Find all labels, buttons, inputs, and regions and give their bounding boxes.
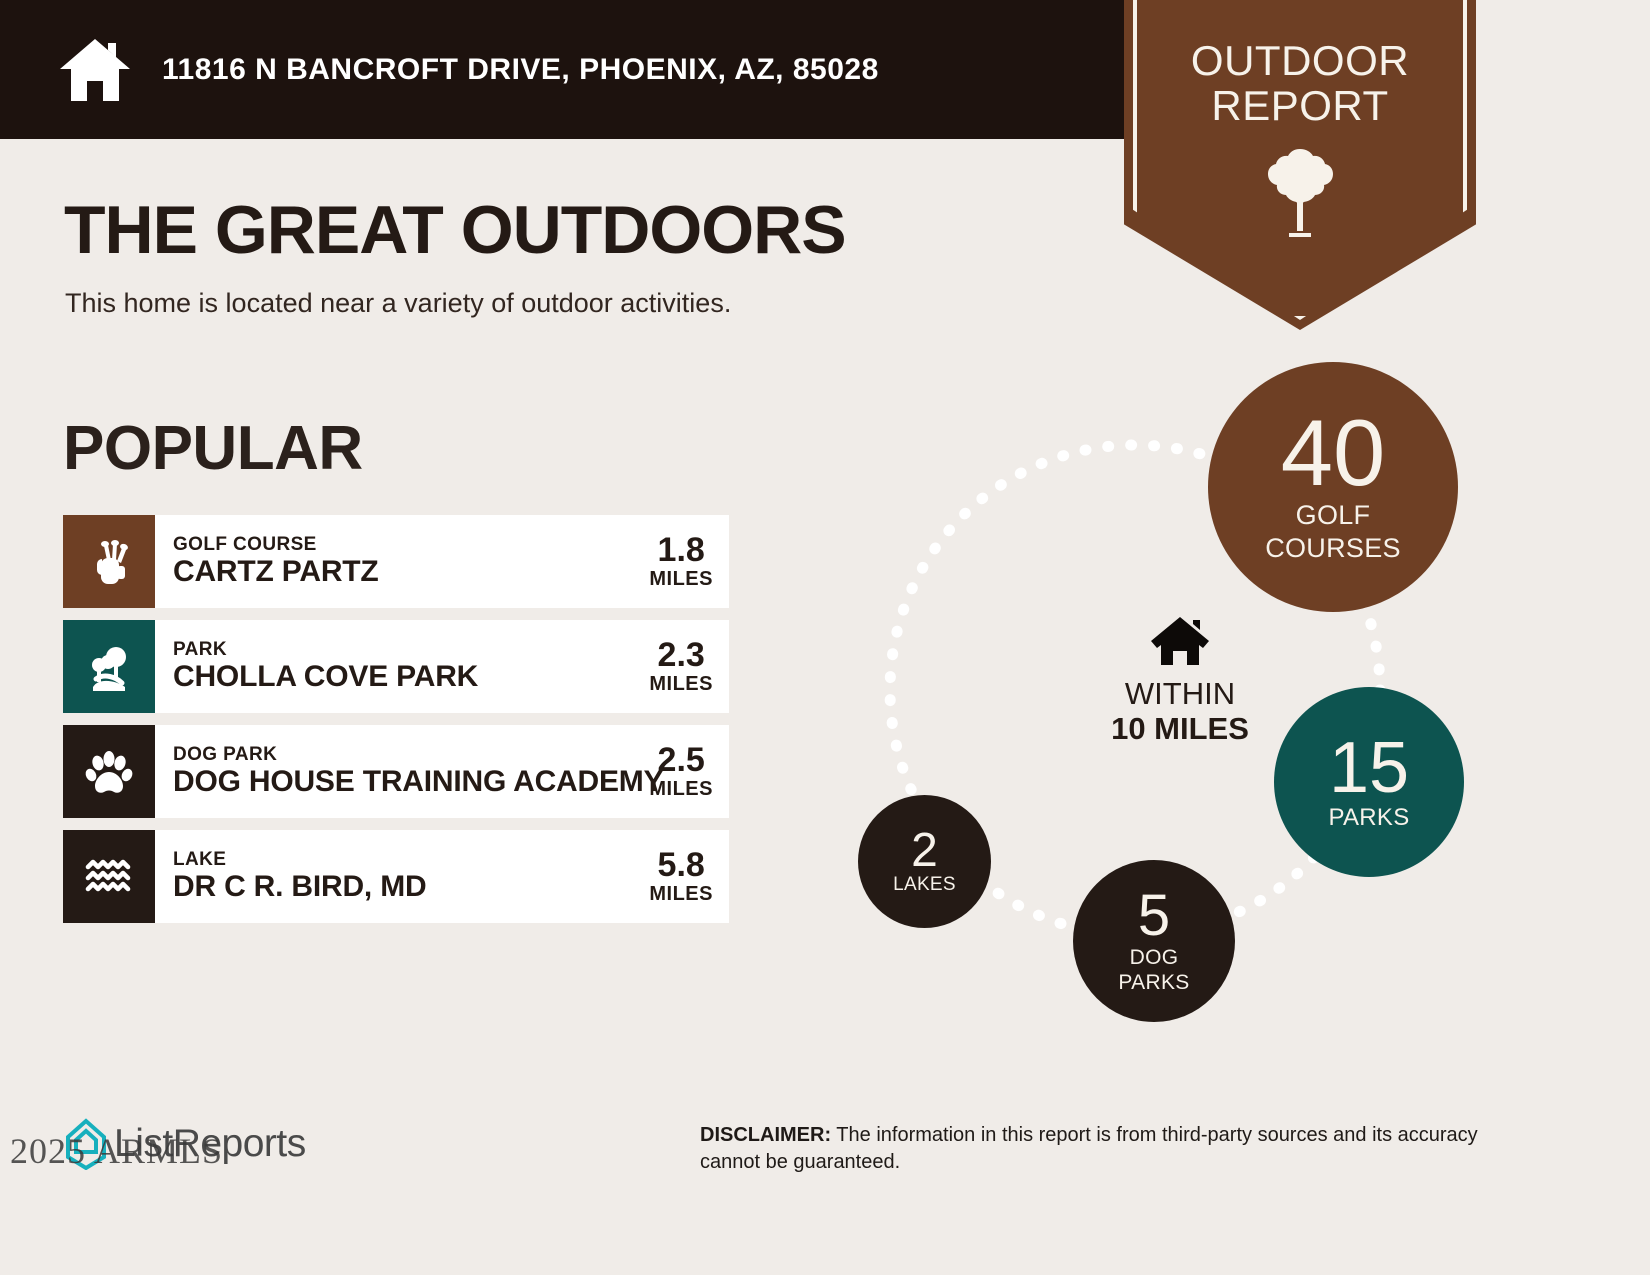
bubble-value: 15	[1329, 734, 1409, 802]
list-item-distance: 1.8 MILES	[649, 515, 729, 608]
bubble-parks[interactable]: 15 PARKS	[1274, 687, 1464, 877]
popular-list: GOLF COURSE CARTZ PARTZ 1.8 MILES PARK C…	[63, 515, 729, 935]
list-item-distance: 5.8 MILES	[649, 830, 729, 923]
distance-unit: MILES	[649, 569, 713, 590]
bubble-label-line2: PARKS	[1118, 972, 1189, 994]
list-item-category: LAKE	[173, 849, 426, 870]
distance-unit: MILES	[649, 674, 713, 695]
bubble-golf-courses[interactable]: 40 GOLF COURSES	[1208, 362, 1458, 612]
bubble-label-line1: GOLF	[1296, 501, 1371, 529]
property-address: 11816 N BANCROFT DRIVE, PHOENIX, AZ, 850…	[162, 53, 879, 87]
bubble-dog-parks[interactable]: 5 DOG PARKS	[1073, 860, 1235, 1022]
page-subtitle: This home is located near a variety of o…	[65, 288, 731, 319]
within-10-miles-diagram: WITHIN 10 MILES 40 GOLF COURSES 15 PARKS…	[830, 340, 1550, 1060]
badge-title-line1: OUTDOOR	[1124, 38, 1476, 83]
distance-value: 2.3	[649, 638, 713, 674]
bubble-value: 40	[1281, 408, 1386, 497]
center-line1: WITHIN	[1015, 677, 1345, 712]
distance-value: 1.8	[649, 533, 713, 569]
bubble-value: 2	[911, 828, 938, 874]
distance-value: 5.8	[649, 848, 713, 884]
list-item-distance: 2.5 MILES	[649, 725, 729, 818]
distance-unit: MILES	[649, 884, 713, 905]
paw-print-icon	[63, 725, 155, 818]
bubble-label-line1: PARKS	[1328, 805, 1409, 830]
outdoor-report-badge: OUTDOOR REPORT	[1124, 0, 1476, 330]
distance-unit: MILES	[649, 779, 713, 800]
list-item[interactable]: LAKE DR C R. BIRD, MD 5.8 MILES	[63, 830, 729, 923]
popular-heading: POPULAR	[63, 418, 363, 480]
trees-icon	[63, 620, 155, 713]
list-item[interactable]: DOG PARK DOG HOUSE TRAINING ACADEMY 2.5 …	[63, 725, 729, 818]
bubble-label-line1: DOG	[1130, 947, 1179, 969]
list-item-category: DOG PARK	[173, 744, 663, 765]
list-item-name: CARTZ PARTZ	[173, 555, 379, 589]
badge-title-line2: REPORT	[1124, 83, 1476, 128]
waves-icon	[63, 830, 155, 923]
bubble-value: 5	[1138, 888, 1170, 943]
distance-value: 2.5	[649, 743, 713, 779]
bubble-label-line2: COURSES	[1265, 534, 1401, 562]
list-item-name: DOG HOUSE TRAINING ACADEMY	[173, 765, 663, 799]
header-bar: 11816 N BANCROFT DRIVE, PHOENIX, AZ, 850…	[0, 0, 1166, 139]
list-item[interactable]: PARK CHOLLA COVE PARK 2.3 MILES	[63, 620, 729, 713]
list-item-category: PARK	[173, 639, 478, 660]
list-item-category: GOLF COURSE	[173, 534, 379, 555]
page-title: THE GREAT OUTDOORS	[64, 196, 846, 264]
list-item-name: DR C R. BIRD, MD	[173, 870, 426, 904]
list-item-distance: 2.3 MILES	[649, 620, 729, 713]
bubble-label-line1: LAKES	[893, 875, 956, 895]
home-icon	[1149, 615, 1211, 667]
golf-bag-icon	[63, 515, 155, 608]
home-icon	[58, 37, 132, 103]
list-item-name: CHOLLA COVE PARK	[173, 660, 478, 694]
disclaimer: DISCLAIMER: The information in this repo…	[700, 1122, 1520, 1176]
bubble-lakes[interactable]: 2 LAKES	[858, 795, 991, 928]
list-item[interactable]: GOLF COURSE CARTZ PARTZ 1.8 MILES	[63, 515, 729, 608]
armls-watermark: 2025 ARMLS	[10, 1130, 223, 1172]
disclaimer-label: DISCLAIMER:	[700, 1124, 831, 1146]
tree-icon	[1263, 143, 1337, 239]
